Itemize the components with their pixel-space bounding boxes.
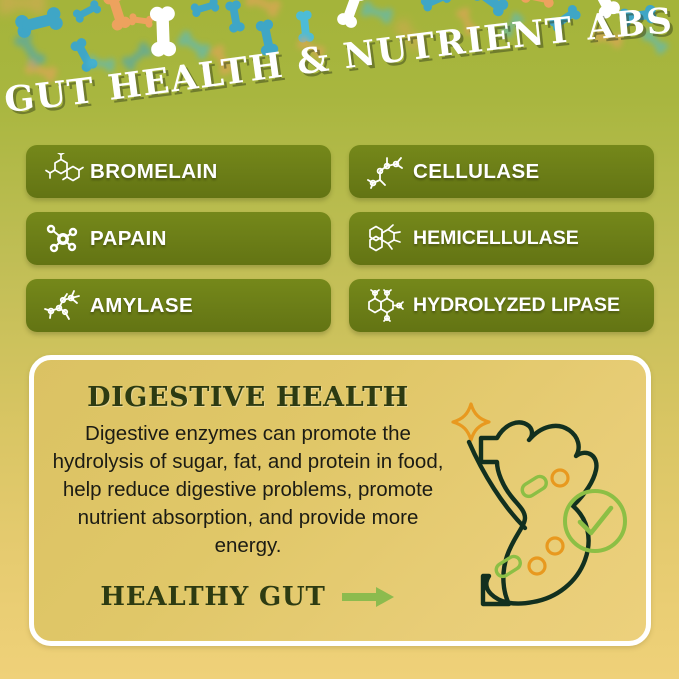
molecule-branched-icon — [361, 152, 413, 192]
card-heading: DIGESTIVE HEALTH — [52, 382, 444, 413]
particle-icon — [552, 470, 568, 486]
molecule-fused-rings-icon — [361, 219, 413, 259]
particle-icon — [529, 558, 545, 574]
enzyme-label: AMYLASE — [90, 294, 193, 318]
arrow-right-icon — [342, 585, 396, 609]
infographic-root: GUT HEALTH & NUTRIENT ABSORPTION GUT HEA… — [0, 0, 679, 679]
enzyme-pill-hemicellulase[interactable]: HEMICELLULASE — [349, 212, 654, 265]
enzyme-pill-cellulase[interactable]: CELLULASE — [349, 145, 654, 198]
enzyme-label: PAPAIN — [90, 227, 167, 251]
capsule-icon — [520, 474, 549, 499]
particle-icon — [547, 538, 563, 554]
sparkle-icon — [453, 404, 489, 440]
capsule-icon — [494, 554, 523, 579]
cta-label: HEALTHY GUT — [100, 582, 325, 612]
enzyme-label: BROMELAIN — [90, 160, 218, 184]
molecule-chain-icon — [38, 286, 90, 326]
digestive-health-card: DIGESTIVE HEALTH Digestive enzymes can p… — [29, 355, 651, 646]
page-title-text: GUT HEALTH & NUTRIENT ABSORPTION — [0, 0, 675, 121]
enzyme-label: HYDROLYZED LIPASE — [413, 294, 620, 317]
molecule-hexagon-pair-icon — [38, 152, 90, 192]
enzyme-pill-amylase[interactable]: AMYLASE — [26, 279, 331, 332]
card-text-block: DIGESTIVE HEALTH Digestive enzymes can p… — [52, 382, 444, 560]
card-body-text: Digestive enzymes can promote the hydrol… — [52, 420, 444, 560]
enzyme-pill-bromelain[interactable]: BROMELAIN — [26, 145, 331, 198]
enzyme-label: HEMICELLULASE — [413, 227, 579, 250]
enzyme-pill-papain[interactable]: PAPAIN — [26, 212, 331, 265]
check-circle-icon — [565, 491, 625, 551]
stomach-illustration — [433, 378, 638, 636]
enzyme-pill-hydrolyzed-lipase[interactable]: HYDROLYZED LIPASE — [349, 279, 654, 332]
page-title: GUT HEALTH & NUTRIENT ABSORPTION GUT HEA… — [0, 8, 679, 128]
molecule-node-cluster-icon — [38, 219, 90, 259]
enzyme-list: BROMELAIN CELLULASE — [26, 145, 654, 332]
healthy-gut-cta[interactable]: HEALTHY GUT — [52, 582, 444, 612]
molecule-ring-oxygen-icon — [361, 286, 413, 326]
enzyme-label: CELLULASE — [413, 160, 540, 184]
svg-text:GUT HEALTH & NUTRIENT ABSORPTI: GUT HEALTH & NUTRIENT ABSORPTION — [0, 0, 675, 121]
